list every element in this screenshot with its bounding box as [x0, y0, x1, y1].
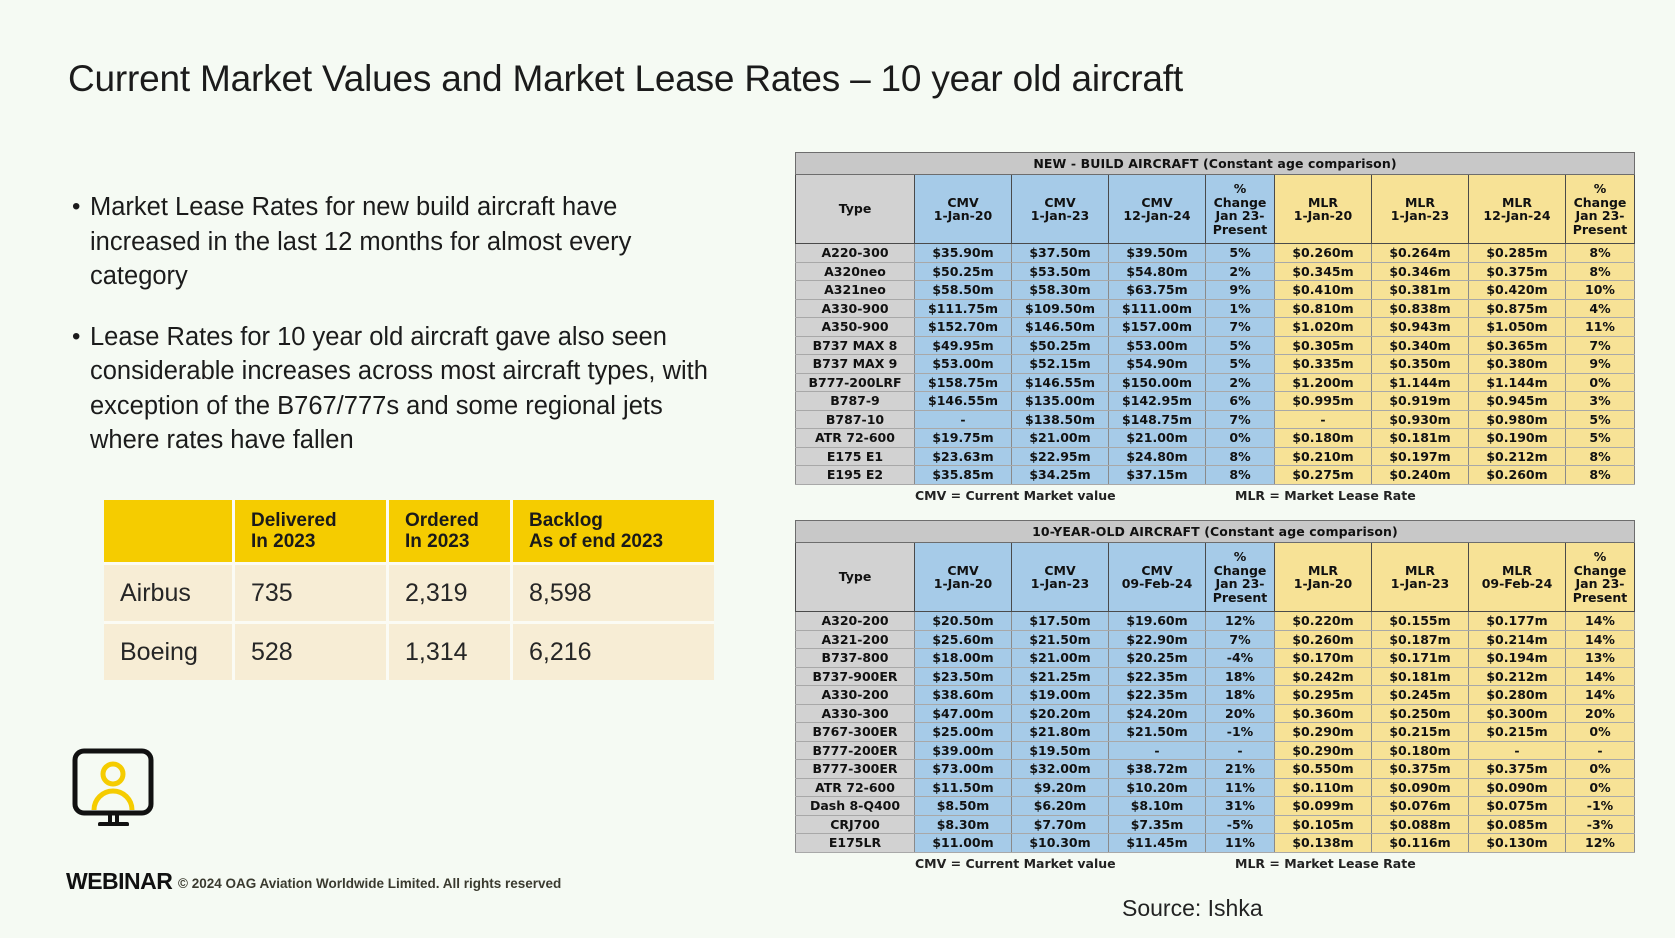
cell-value: 2% [1206, 262, 1275, 281]
ten-year-old-col--change: %ChangeJan 23-Present [1206, 543, 1275, 612]
header-line-4: Present [1568, 223, 1632, 237]
row-type-label: B767-300ER [796, 723, 915, 742]
cell-value: $50.25m [915, 262, 1012, 281]
cell-value: $11.50m [915, 778, 1012, 797]
cell-value: $0.177m [1469, 612, 1566, 631]
cell-value: $0.240m [1372, 466, 1469, 485]
row-type-label: A350-900 [796, 318, 915, 337]
cell-value: $53.00m [915, 355, 1012, 374]
cell-value: - [915, 410, 1012, 429]
cell-value: $146.55m [1012, 373, 1109, 392]
cell-value: 20% [1206, 704, 1275, 723]
table-row: B787-10-$138.50m$148.75m7%-$0.930m$0.980… [796, 410, 1635, 429]
header-line-1: CMV [1111, 564, 1203, 578]
footnote-mlr: MLR = Market Lease Rate [1235, 856, 1416, 871]
cell-value: $37.50m [1012, 244, 1109, 263]
cell-value: $23.50m [915, 667, 1012, 686]
cell-value: $0.088m [1372, 815, 1469, 834]
header-line-2: 1-Jan-20 [917, 577, 1009, 591]
cell-value: -3% [1566, 815, 1635, 834]
bullet-dot-icon: • [72, 320, 90, 458]
cell-value: $1.050m [1469, 318, 1566, 337]
bullet-text: Market Lease Rates for new build aircraf… [90, 190, 712, 294]
ten-year-old-col-mlr-1-jan-23: MLR1-Jan-23 [1372, 543, 1469, 612]
cell-value: $0.138m [1275, 834, 1372, 853]
cell-value: 5% [1566, 429, 1635, 448]
header-line-1: CMV [1111, 196, 1203, 210]
cell-value: 18% [1206, 686, 1275, 705]
table-row: A321neo$58.50m$58.30m$63.75m9%$0.410m$0.… [796, 281, 1635, 300]
ten-year-old-col-cmv-1-jan-20: CMV1-Jan-20 [915, 543, 1012, 612]
table-row: E175LR$11.00m$10.30m$11.45m11%$0.138m$0.… [796, 834, 1635, 853]
cell-value: $0.215m [1372, 723, 1469, 742]
cell-value: $0.980m [1469, 410, 1566, 429]
cell-value: $0.210m [1275, 447, 1372, 466]
ten-year-old-col-cmv-09-feb-24: CMV09-Feb-24 [1109, 543, 1206, 612]
cell-value: $0.810m [1275, 299, 1372, 318]
new-build-col-mlr-1-jan-20: MLR1-Jan-20 [1275, 175, 1372, 244]
cell-value: 0% [1206, 429, 1275, 448]
cell-value: $63.75m [1109, 281, 1206, 300]
cell-value: $25.60m [915, 630, 1012, 649]
cell-value: - [1206, 741, 1275, 760]
cell-value: 7% [1206, 630, 1275, 649]
row-type-label: A330-200 [796, 686, 915, 705]
table-row: A220-300$35.90m$37.50m$39.50m5%$0.260m$0… [796, 244, 1635, 263]
new-build-aircraft-table: NEW - BUILD AIRCRAFT (Constant age compa… [795, 152, 1635, 485]
cell-value: 11% [1206, 778, 1275, 797]
cell-value: $152.70m [915, 318, 1012, 337]
cell-value: $0.340m [1372, 336, 1469, 355]
cell-value: $0.919m [1372, 392, 1469, 411]
cell-value: $0.838m [1372, 299, 1469, 318]
source-label: Source: Ishka [1122, 895, 1263, 922]
orders-row-backlog: 8,598 [512, 564, 715, 623]
cell-value: $0.260m [1469, 466, 1566, 485]
table-row: A320neo$50.25m$53.50m$54.80m2%$0.345m$0.… [796, 262, 1635, 281]
cell-value: $0.245m [1372, 686, 1469, 705]
cell-value: $0.264m [1372, 244, 1469, 263]
cell-value: 0% [1566, 778, 1635, 797]
table-row: A330-200$38.60m$19.00m$22.35m18%$0.295m$… [796, 686, 1635, 705]
cell-value: $21.80m [1012, 723, 1109, 742]
header-line-4: Present [1568, 591, 1632, 605]
new-build-footnotes: CMV = Current Market value MLR = Market … [795, 485, 1635, 507]
orders-row-delivered: 735 [234, 564, 388, 623]
cell-value: $0.155m [1372, 612, 1469, 631]
cell-value: $6.20m [1012, 797, 1109, 816]
cell-value: 5% [1206, 355, 1275, 374]
cell-value: $8.50m [915, 797, 1012, 816]
header-line-1: MLR [1277, 564, 1369, 578]
cell-value: -1% [1566, 797, 1635, 816]
list-item: • Market Lease Rates for new build aircr… [72, 190, 712, 294]
cell-value: $0.130m [1469, 834, 1566, 853]
cell-value: $58.30m [1012, 281, 1109, 300]
cell-value: $1.144m [1372, 373, 1469, 392]
table-row: A321-200$25.60m$21.50m$22.90m7%$0.260m$0… [796, 630, 1635, 649]
list-item: • Lease Rates for 10 year old aircraft g… [72, 320, 712, 458]
footnote-cmv: CMV = Current Market value [915, 856, 1116, 871]
orders-col-delivered-line1: Delivered [251, 510, 386, 531]
header-line-4: Present [1208, 591, 1272, 605]
cell-value: $0.300m [1469, 704, 1566, 723]
cell-value: $150.00m [1109, 373, 1206, 392]
cell-value: $0.335m [1275, 355, 1372, 374]
ten-year-old-footnotes: CMV = Current Market value MLR = Market … [795, 853, 1635, 875]
header-line-2: 1-Jan-23 [1014, 209, 1106, 223]
new-build-band-title: NEW - BUILD AIRCRAFT (Constant age compa… [796, 153, 1635, 175]
cell-value: $146.50m [1012, 318, 1109, 337]
header-line-1: MLR [1471, 196, 1563, 210]
cell-value: $0.295m [1275, 686, 1372, 705]
cell-value: $25.00m [915, 723, 1012, 742]
cell-value: 8% [1566, 466, 1635, 485]
cell-value: $0.116m [1372, 834, 1469, 853]
cell-value: 11% [1206, 834, 1275, 853]
row-type-label: A330-900 [796, 299, 915, 318]
cell-value: $32.00m [1012, 760, 1109, 779]
cell-value: 7% [1566, 336, 1635, 355]
cell-value: 8% [1566, 447, 1635, 466]
cell-value: $22.35m [1109, 667, 1206, 686]
cell-value: $20.25m [1109, 649, 1206, 668]
orders-col-ordered: Ordered In 2023 [388, 500, 512, 564]
header-line-1: % [1208, 182, 1272, 196]
cell-value: 7% [1206, 318, 1275, 337]
new-build-col-cmv-12-jan-24: CMV12-Jan-24 [1109, 175, 1206, 244]
table-row: ATR 72-600$11.50m$9.20m$10.20m11%$0.110m… [796, 778, 1635, 797]
cell-value: $10.20m [1109, 778, 1206, 797]
row-type-label: A330-300 [796, 704, 915, 723]
table-row: B737-900ER$23.50m$21.25m$22.35m18%$0.242… [796, 667, 1635, 686]
row-type-label: B777-300ER [796, 760, 915, 779]
new-build-col--change: %ChangeJan 23-Present [1566, 175, 1635, 244]
cell-value: $22.90m [1109, 630, 1206, 649]
cell-value: $0.550m [1275, 760, 1372, 779]
orders-row-name: Airbus [104, 564, 234, 623]
cell-value: $8.30m [915, 815, 1012, 834]
cell-value: 0% [1566, 723, 1635, 742]
webinar-label: WEBINAR [66, 868, 172, 895]
cell-value: - [1469, 741, 1566, 760]
cell-value: $0.380m [1469, 355, 1566, 374]
row-type-label: B777-200ER [796, 741, 915, 760]
cell-value: 0% [1566, 760, 1635, 779]
cell-value: $73.00m [915, 760, 1012, 779]
cell-value: 5% [1206, 244, 1275, 263]
ten-year-old-band-title: 10-YEAR-OLD AIRCRAFT (Constant age compa… [796, 521, 1635, 543]
cell-value: 13% [1566, 649, 1635, 668]
table-header-row: Delivered In 2023 Ordered In 2023 Backlo… [104, 500, 714, 564]
table-row: CRJ700$8.30m$7.70m$7.35m-5%$0.105m$0.088… [796, 815, 1635, 834]
cell-value: $0.350m [1372, 355, 1469, 374]
cell-value: $0.943m [1372, 318, 1469, 337]
cell-value: $0.075m [1469, 797, 1566, 816]
table-row: A350-900$152.70m$146.50m$157.00m7%$1.020… [796, 318, 1635, 337]
cell-value: $0.930m [1372, 410, 1469, 429]
header-line-1: MLR [1374, 196, 1466, 210]
cell-value: $21.00m [1012, 649, 1109, 668]
table-row: B787-9$146.55m$135.00m$142.95m6%$0.995m$… [796, 392, 1635, 411]
row-type-label: A220-300 [796, 244, 915, 263]
cell-value: 18% [1206, 667, 1275, 686]
cell-value: 5% [1206, 336, 1275, 355]
cell-value: $0.110m [1275, 778, 1372, 797]
cell-value: $38.72m [1109, 760, 1206, 779]
cell-value: $20.20m [1012, 704, 1109, 723]
cell-value: $157.00m [1109, 318, 1206, 337]
cell-value: 11% [1566, 318, 1635, 337]
row-type-label: B737 MAX 9 [796, 355, 915, 374]
ten-year-old-col--change: %ChangeJan 23-Present [1566, 543, 1635, 612]
orders-row-ordered: 2,319 [388, 564, 512, 623]
cell-value: $54.80m [1109, 262, 1206, 281]
cell-value: $7.70m [1012, 815, 1109, 834]
cell-value: $0.290m [1275, 723, 1372, 742]
table-row: B777-200LRF$158.75m$146.55m$150.00m2%$1.… [796, 373, 1635, 392]
cell-value: $0.346m [1372, 262, 1469, 281]
table-band-row: NEW - BUILD AIRCRAFT (Constant age compa… [796, 153, 1635, 175]
new-build-col-cmv-1-jan-20: CMV1-Jan-20 [915, 175, 1012, 244]
row-type-label: E175LR [796, 834, 915, 853]
cell-value: $0.242m [1275, 667, 1372, 686]
cell-value: 14% [1566, 630, 1635, 649]
header-line-3: Jan 23- [1568, 577, 1632, 591]
cell-value: $0.105m [1275, 815, 1372, 834]
cell-value: $0.212m [1469, 447, 1566, 466]
cell-value: $35.85m [915, 466, 1012, 485]
cell-value: $19.00m [1012, 686, 1109, 705]
header-line-2: Change [1208, 564, 1272, 578]
header-line-2: Change [1568, 564, 1632, 578]
header-line-2: 1-Jan-23 [1374, 577, 1466, 591]
cell-value: $23.63m [915, 447, 1012, 466]
orders-col-delivered-line2: In 2023 [251, 531, 386, 552]
cell-value: $53.50m [1012, 262, 1109, 281]
cell-value: 20% [1566, 704, 1635, 723]
cell-value: $0.275m [1275, 466, 1372, 485]
cell-value: $0.220m [1275, 612, 1372, 631]
cell-value: $0.345m [1275, 262, 1372, 281]
cell-value: $38.60m [915, 686, 1012, 705]
cell-value: - [1566, 741, 1635, 760]
cell-value: $9.20m [1012, 778, 1109, 797]
cell-value: $0.875m [1469, 299, 1566, 318]
header-line-2: 1-Jan-20 [917, 209, 1009, 223]
cell-value: $0.197m [1372, 447, 1469, 466]
header-line-1: % [1208, 550, 1272, 564]
cell-value: $142.95m [1109, 392, 1206, 411]
cell-value: $17.50m [1012, 612, 1109, 631]
cell-value: $11.00m [915, 834, 1012, 853]
cell-value: 14% [1566, 667, 1635, 686]
cell-value: $0.171m [1372, 649, 1469, 668]
header-line-1: MLR [1471, 564, 1563, 578]
table-row: Dash 8-Q400$8.50m$6.20m$8.10m31%$0.099m$… [796, 797, 1635, 816]
footnote-cmv: CMV = Current Market value [915, 488, 1116, 503]
webinar-monitor-icon [72, 748, 154, 831]
cell-value: $35.90m [915, 244, 1012, 263]
cell-value: $0.410m [1275, 281, 1372, 300]
cell-value: 14% [1566, 686, 1635, 705]
header-line-1: Type [798, 570, 912, 584]
cell-value: 31% [1206, 797, 1275, 816]
table-row: B737 MAX 8$49.95m$50.25m$53.00m5%$0.305m… [796, 336, 1635, 355]
orders-table: Delivered In 2023 Ordered In 2023 Backlo… [104, 500, 714, 680]
cell-value: $1.144m [1469, 373, 1566, 392]
row-type-label: B737-800 [796, 649, 915, 668]
new-build-col--change: %ChangeJan 23-Present [1206, 175, 1275, 244]
cell-value: $20.50m [915, 612, 1012, 631]
cell-value: $0.365m [1469, 336, 1566, 355]
table-row: B737-800$18.00m$21.00m$20.25m-4%$0.170m$… [796, 649, 1635, 668]
cell-value: -5% [1206, 815, 1275, 834]
orders-col-backlog: Backlog As of end 2023 [512, 500, 715, 564]
cell-value: 8% [1206, 447, 1275, 466]
orders-col-ordered-line2: In 2023 [405, 531, 510, 552]
cell-value: 9% [1566, 355, 1635, 374]
table-row: A330-300$47.00m$20.20m$24.20m20%$0.360m$… [796, 704, 1635, 723]
header-line-2: 1-Jan-20 [1277, 209, 1369, 223]
cell-value: $54.90m [1109, 355, 1206, 374]
ten-year-old-col-mlr-1-jan-20: MLR1-Jan-20 [1275, 543, 1372, 612]
table-row: Boeing 528 1,314 6,216 [104, 623, 714, 681]
orders-row-delivered: 528 [234, 623, 388, 681]
row-type-label: B737 MAX 8 [796, 336, 915, 355]
footnote-mlr: MLR = Market Lease Rate [1235, 488, 1416, 503]
row-type-label: A320neo [796, 262, 915, 281]
table-row: ATR 72-600$19.75m$21.00m$21.00m0%$0.180m… [796, 429, 1635, 448]
page-title: Current Market Values and Market Lease R… [68, 58, 1183, 100]
table-row: B767-300ER$25.00m$21.80m$21.50m-1%$0.290… [796, 723, 1635, 742]
cell-value: $49.95m [915, 336, 1012, 355]
cell-value: $11.45m [1109, 834, 1206, 853]
cell-value: 2% [1206, 373, 1275, 392]
cell-value: $0.090m [1469, 778, 1566, 797]
cell-value: 8% [1566, 262, 1635, 281]
cell-value: $0.375m [1469, 262, 1566, 281]
cell-value: 4% [1566, 299, 1635, 318]
header-line-3: Jan 23- [1208, 209, 1272, 223]
bullet-list: • Market Lease Rates for new build aircr… [72, 190, 712, 484]
header-line-2: 1-Jan-23 [1374, 209, 1466, 223]
new-build-col-mlr-12-jan-24: MLR12-Jan-24 [1469, 175, 1566, 244]
orders-col-backlog-line1: Backlog [529, 510, 714, 531]
cell-value: $34.25m [1012, 466, 1109, 485]
cell-value: $0.260m [1275, 244, 1372, 263]
header-line-3: Jan 23- [1208, 577, 1272, 591]
cell-value: $0.076m [1372, 797, 1469, 816]
cell-value: $19.50m [1012, 741, 1109, 760]
cell-value: 21% [1206, 760, 1275, 779]
cell-value: $0.181m [1372, 429, 1469, 448]
cell-value: $1.200m [1275, 373, 1372, 392]
table-header-row: TypeCMV1-Jan-20CMV1-Jan-23CMV12-Jan-24%C… [796, 175, 1635, 244]
cell-value: 8% [1566, 244, 1635, 263]
cell-value: 8% [1206, 466, 1275, 485]
header-line-2: 1-Jan-20 [1277, 577, 1369, 591]
cell-value: $0.375m [1469, 760, 1566, 779]
header-line-2: 1-Jan-23 [1014, 577, 1106, 591]
ten-year-old-col-type: Type [796, 543, 915, 612]
header-line-2: 12-Jan-24 [1111, 209, 1203, 223]
header-line-2: Change [1568, 196, 1632, 210]
orders-row-ordered: 1,314 [388, 623, 512, 681]
table-band-row: 10-YEAR-OLD AIRCRAFT (Constant age compa… [796, 521, 1635, 543]
cell-value: $39.00m [915, 741, 1012, 760]
cell-value: $47.00m [915, 704, 1012, 723]
cell-value: $111.75m [915, 299, 1012, 318]
cell-value: 1% [1206, 299, 1275, 318]
header-line-1: CMV [917, 564, 1009, 578]
row-type-label: E195 E2 [796, 466, 915, 485]
row-type-label: ATR 72-600 [796, 778, 915, 797]
cell-value: $0.215m [1469, 723, 1566, 742]
cell-value: $146.55m [915, 392, 1012, 411]
cell-value: 6% [1206, 392, 1275, 411]
cell-value: $0.170m [1275, 649, 1372, 668]
cell-value: -1% [1206, 723, 1275, 742]
table-row: E175 E1$23.63m$22.95m$24.80m8%$0.210m$0.… [796, 447, 1635, 466]
row-type-label: A320-200 [796, 612, 915, 631]
cell-value: $0.280m [1469, 686, 1566, 705]
cell-value: $0.290m [1275, 741, 1372, 760]
row-type-label: CRJ700 [796, 815, 915, 834]
table-row: A320-200$20.50m$17.50m$19.60m12%$0.220m$… [796, 612, 1635, 631]
cell-value: $135.00m [1012, 392, 1109, 411]
cell-value: 5% [1566, 410, 1635, 429]
header-line-1: CMV [1014, 196, 1106, 210]
ten-year-old-col-cmv-1-jan-23: CMV1-Jan-23 [1012, 543, 1109, 612]
cell-value: $21.00m [1109, 429, 1206, 448]
cell-value: $50.25m [1012, 336, 1109, 355]
cell-value: $111.00m [1109, 299, 1206, 318]
cell-value: $0.420m [1469, 281, 1566, 300]
cell-value: $0.995m [1275, 392, 1372, 411]
row-type-label: B787-10 [796, 410, 915, 429]
table-row: E195 E2$35.85m$34.25m$37.15m8%$0.275m$0.… [796, 466, 1635, 485]
new-build-col-type: Type [796, 175, 915, 244]
cell-value: $0.090m [1372, 778, 1469, 797]
header-line-2: Change [1208, 196, 1272, 210]
cell-value: $10.30m [1012, 834, 1109, 853]
cell-value: $0.180m [1372, 741, 1469, 760]
cell-value: $8.10m [1109, 797, 1206, 816]
cell-value: -4% [1206, 649, 1275, 668]
cell-value: $109.50m [1012, 299, 1109, 318]
row-type-label: B777-200LRF [796, 373, 915, 392]
cell-value: $0.250m [1372, 704, 1469, 723]
cell-value: 12% [1566, 834, 1635, 853]
bullet-dot-icon: • [72, 190, 90, 294]
header-line-1: MLR [1277, 196, 1369, 210]
cell-value: $24.20m [1109, 704, 1206, 723]
cell-value: $21.25m [1012, 667, 1109, 686]
orders-row-backlog: 6,216 [512, 623, 715, 681]
orders-col-blank [104, 500, 234, 564]
cell-value: $138.50m [1012, 410, 1109, 429]
row-type-label: Dash 8-Q400 [796, 797, 915, 816]
cell-value: 7% [1206, 410, 1275, 429]
cell-value: $0.260m [1275, 630, 1372, 649]
header-line-2: 09-Feb-24 [1471, 577, 1563, 591]
cell-value: $0.214m [1469, 630, 1566, 649]
header-line-1: Type [798, 202, 912, 216]
header-line-1: % [1568, 550, 1632, 564]
cell-value: $158.75m [915, 373, 1012, 392]
orders-col-backlog-line2: As of end 2023 [529, 531, 714, 552]
